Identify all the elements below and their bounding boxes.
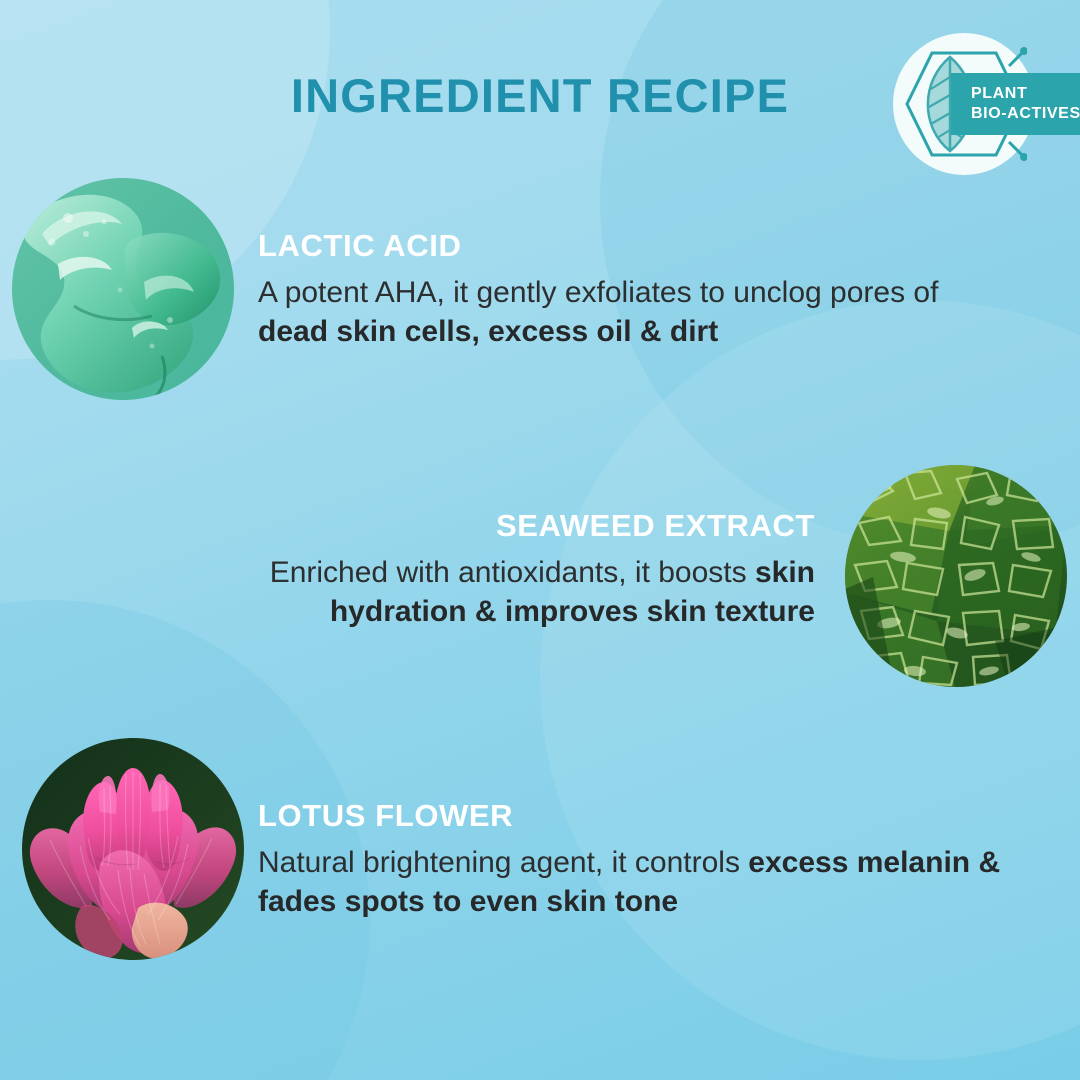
ingredient-recipe-infographic: INGREDIENT RECIPE PLANT BIO-ACTIVES [0, 0, 1080, 1080]
description-plain: A potent AHA, it gently exfoliates to un… [258, 276, 938, 309]
badge-banner: PLANT BIO-ACTIVES [951, 73, 1080, 135]
ingredient-name-lotus-flower: LOTUS FLOWER [258, 798, 1038, 834]
green-gel-photo [12, 178, 234, 400]
ingredient-block-lactic-acid: LACTIC ACID A potent AHA, it gently exfo… [258, 228, 958, 351]
ingredient-name-lactic-acid: LACTIC ACID [258, 228, 958, 264]
description-plain: Natural brightening agent, it controls [258, 846, 748, 879]
badge-line-2: BIO-ACTIVES [971, 104, 1080, 124]
ingredient-description-seaweed-extract: Enriched with antioxidants, it boosts sk… [185, 553, 815, 631]
ingredient-description-lotus-flower: Natural brightening agent, it controls e… [258, 843, 1038, 921]
ingredient-block-seaweed-extract: SEAWEED EXTRACT Enriched with antioxidan… [185, 508, 815, 631]
background-blob-bottom-right [540, 300, 1080, 1060]
badge-line-1: PLANT [971, 84, 1080, 104]
seaweed-photo [845, 465, 1067, 687]
ingredient-block-lotus-flower: LOTUS FLOWER Natural brightening agent, … [258, 798, 1038, 921]
description-plain: Enriched with antioxidants, it boosts [270, 556, 755, 589]
ingredient-name-seaweed-extract: SEAWEED EXTRACT [185, 508, 815, 544]
plant-bio-actives-badge: PLANT BIO-ACTIVES [893, 33, 1080, 175]
description-highlight: dead skin cells, excess oil & dirt [258, 315, 718, 348]
ingredient-description-lactic-acid: A potent AHA, it gently exfoliates to un… [258, 273, 958, 351]
lotus-flower-photo [22, 738, 244, 960]
